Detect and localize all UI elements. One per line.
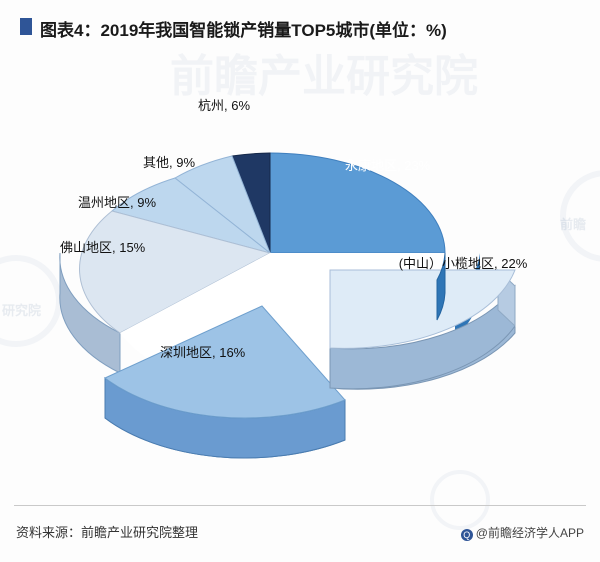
brand-label: @前瞻经济学人APP — [476, 526, 584, 540]
pie-chart-svg — [0, 48, 600, 498]
footer-divider — [14, 505, 586, 506]
slice-xiaolan-group — [330, 270, 515, 389]
brand-logo-icon: Q — [461, 529, 473, 541]
data-label-wenzhou: 温州地区, 9% — [78, 195, 156, 211]
brand-credit: Q@前瞻经济学人APP — [461, 524, 584, 541]
data-label-xiaolan: (中山）小榄地区, 22% — [388, 256, 538, 272]
page-title: 图表4：2019年我国智能锁产销量TOP5城市(单位：%) — [40, 16, 447, 41]
data-label-other: 其他, 9% — [143, 155, 195, 171]
chart-canvas: 图表4：2019年我国智能锁产销量TOP5城市(单位：%) 前瞻产业研究院 前瞻… — [0, 0, 600, 562]
data-label-yongkang: 永康地区, 23% — [345, 158, 430, 174]
data-label-hangzhou: 杭州, 6% — [198, 98, 250, 114]
data-label-foshan: 佛山地区, 15% — [60, 240, 145, 256]
pie-chart: 杭州, 6% 永康地区, 23% (中山）小榄地区, 22% 深圳地区, 16%… — [0, 48, 600, 498]
source-note: 资料来源：前瞻产业研究院整理 — [16, 522, 198, 541]
title-accent-bar — [20, 18, 32, 35]
data-label-shenzhen: 深圳地区, 16% — [160, 345, 245, 361]
